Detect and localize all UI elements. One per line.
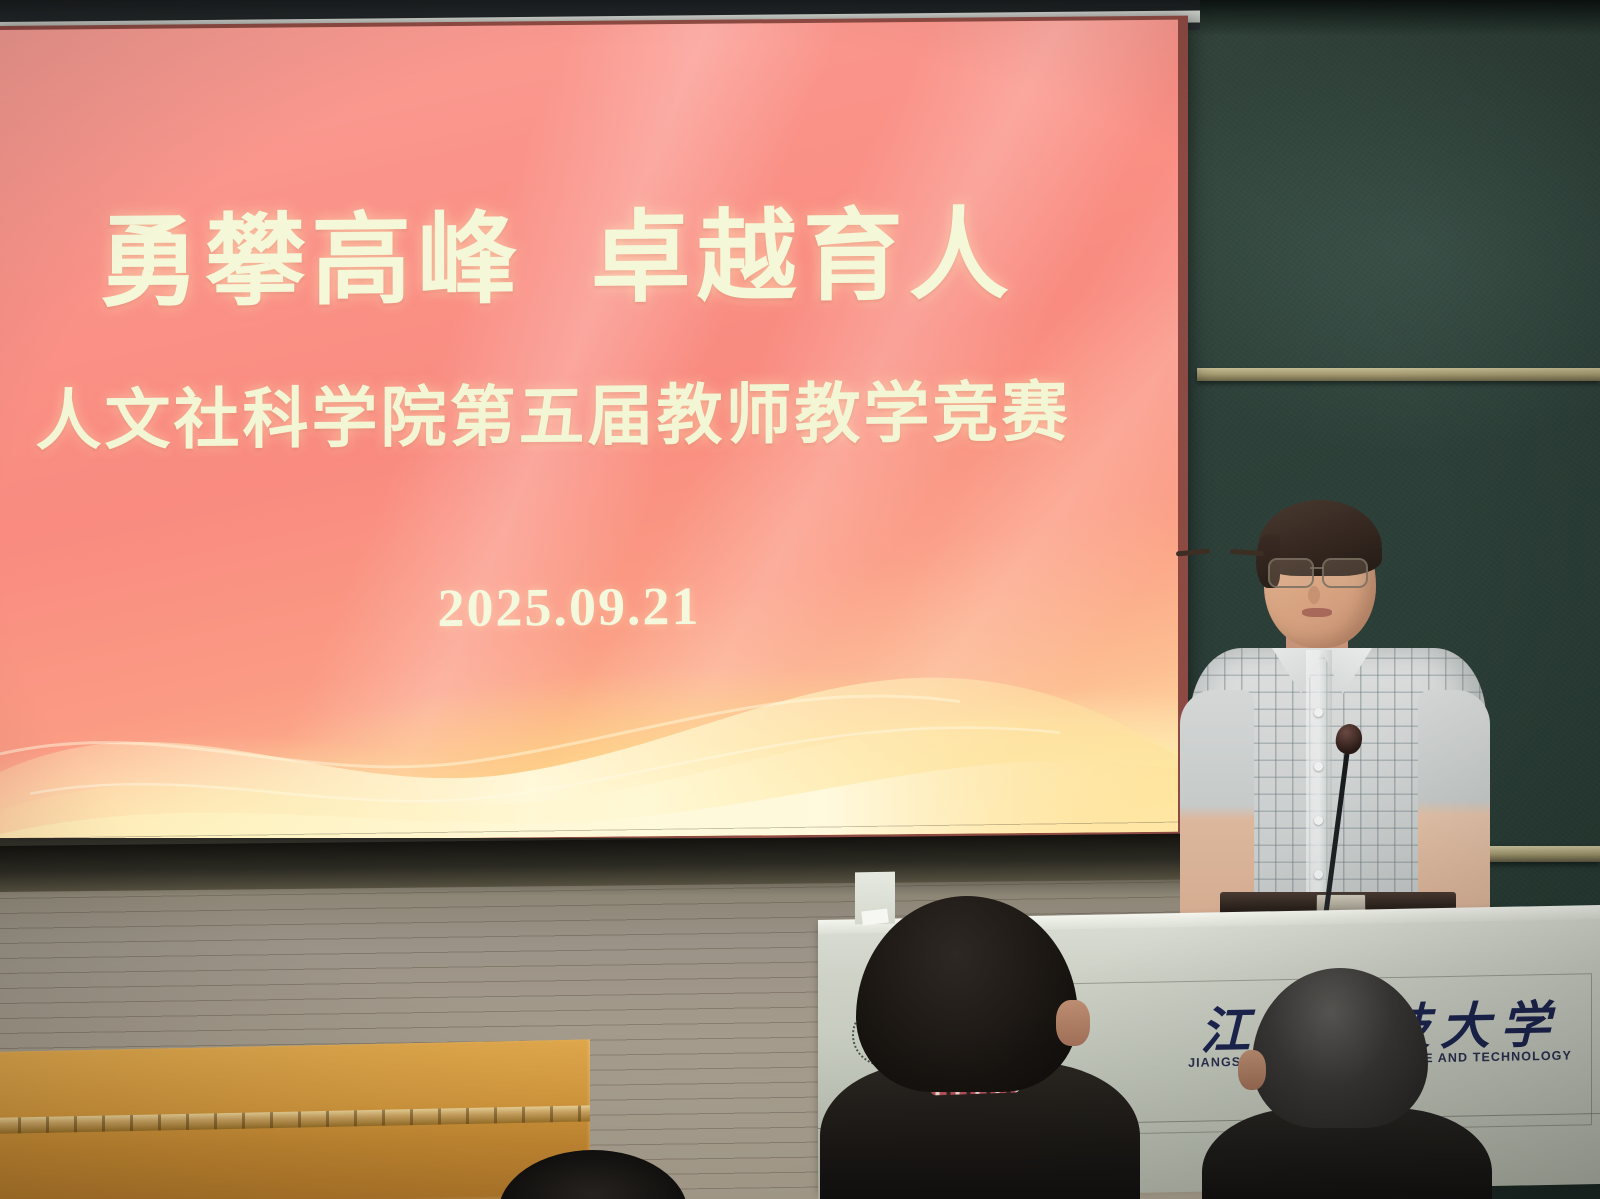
audience-right-hair [1252,968,1428,1128]
audience-member-right [1222,968,1472,1199]
speaker-mouth [1302,608,1332,617]
slide-date: 2025.09.21 [0,571,1158,643]
audience-member-front [820,896,1140,1199]
audience-bottom-hair [498,1150,688,1199]
audience-front-ear [1056,1000,1090,1046]
speaker-eyebrow-right [1230,549,1264,556]
slide-text-block: 勇攀高峰 卓越育人 人文社科学院第五届教师教学竞赛 2025.09.21 [0,20,1178,842]
speaker-nose [1308,586,1320,604]
blackboard-top-shadow [1140,0,1600,36]
glasses-lens-left [1268,558,1314,588]
audience-front-hair [856,896,1078,1092]
eyeglasses-icon [1266,558,1378,586]
shirt-button [1314,762,1323,771]
slide-title: 勇攀高峰 卓越育人 [0,172,1146,327]
speaker-eyebrow-left [1176,549,1210,557]
glasses-bridge [1310,567,1324,569]
glasses-lens-right [1322,558,1368,588]
audience-right-ear [1238,1050,1266,1090]
projection-screen: 勇攀高峰 卓越育人 人文社科学院第五届教师教学竞赛 2025.09.21 [0,20,1178,842]
audience-member-bottom [498,1150,688,1199]
projection-screen-frame: 勇攀高峰 卓越育人 人文社科学院第五届教师教学竞赛 2025.09.21 [0,16,1188,848]
slide-subtitle: 人文社科学院第五届教师教学竞赛 [0,358,1142,464]
shirt-button [1314,708,1323,717]
shirt-button [1314,870,1323,879]
shirt-button [1314,816,1323,825]
chalk-rail-upper [1197,368,1600,381]
photo-scene: 勇攀高峰 卓越育人 人文社科学院第五届教师教学竞赛 2025.09.21 [0,0,1600,1199]
